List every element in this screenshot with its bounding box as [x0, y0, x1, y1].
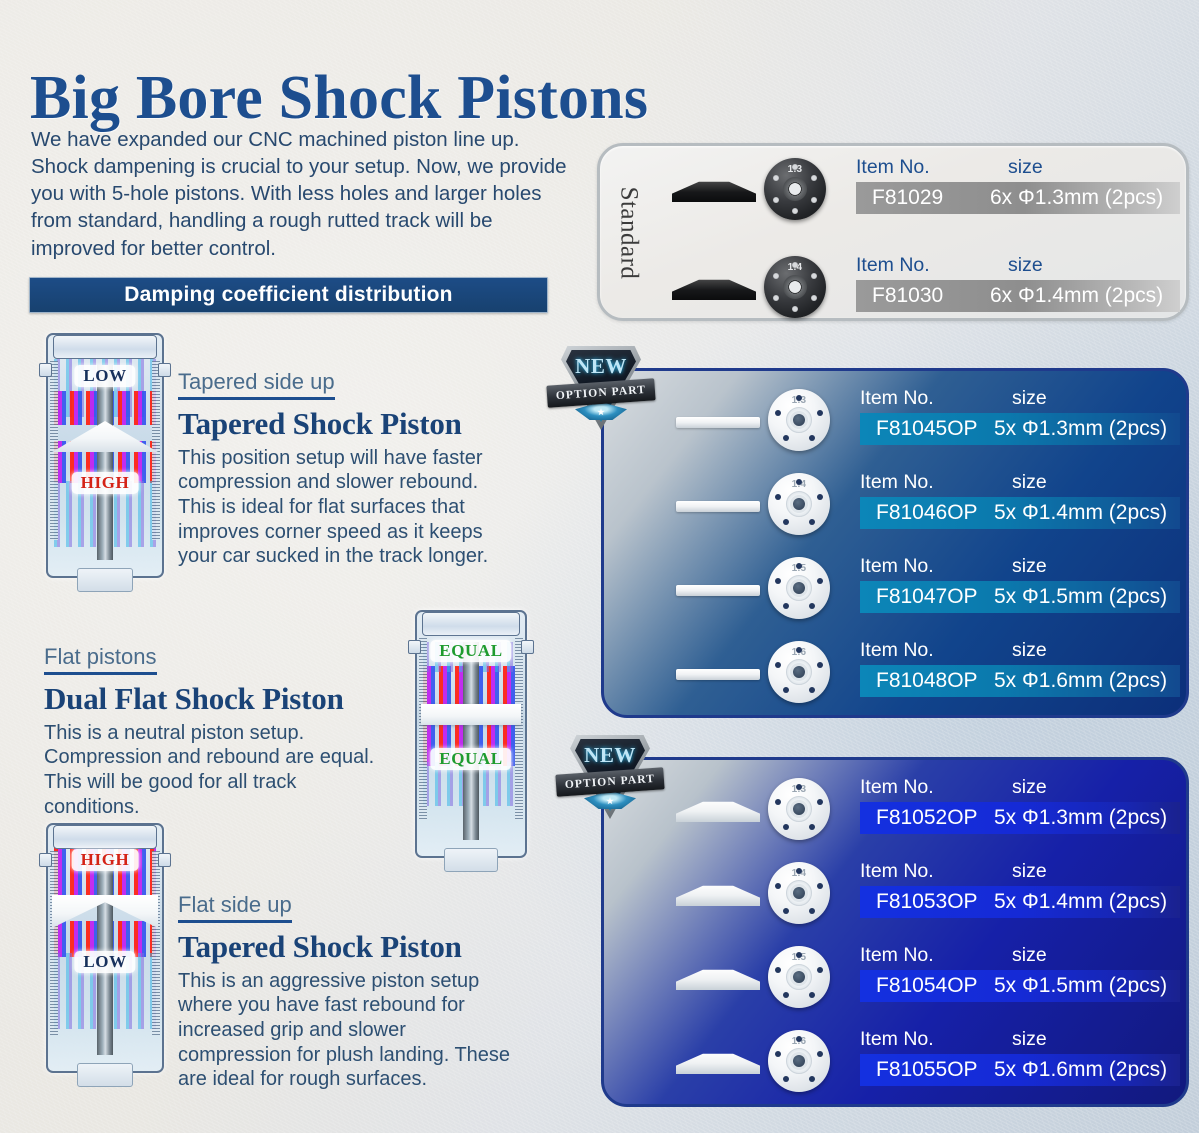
section-flat-pistons: Flat pistons Dual Flat Shock Piston This…: [44, 645, 396, 819]
piston-hole: [817, 410, 824, 417]
column-header-item-no: Item No.: [856, 254, 1008, 277]
row-value-bar[interactable]: F81046OP5x Φ1.4mm (2pcs): [860, 497, 1180, 529]
product-row-text: Item No.sizeF81054OP5x Φ1.5mm (2pcs): [860, 940, 1180, 1016]
cell-item-no: F81055OP: [860, 1058, 994, 1082]
row-value-bar[interactable]: F81055OP5x Φ1.6mm (2pcs): [860, 1054, 1180, 1086]
shock-diagram-flat-side-up: HIGH LOW: [46, 823, 164, 1073]
row-header: Item No.size: [856, 152, 1180, 182]
piston-disc: 1.3: [768, 389, 830, 451]
piston-side-profile: [676, 493, 760, 519]
cell-size: 5x Φ1.6mm (2pcs): [994, 669, 1167, 693]
cell-size: 5x Φ1.3mm (2pcs): [994, 806, 1167, 830]
piston-hole: [792, 306, 799, 313]
shock-foot: [444, 848, 498, 872]
product-row-text: Item No.sizeF81053OP5x Φ1.4mm (2pcs): [860, 856, 1180, 932]
cell-item-no: F81048OP: [860, 669, 994, 693]
panel-option-flat-pistons: 1.3Item No.sizeF81045OP5x Φ1.3mm (2pcs)1…: [601, 368, 1189, 718]
piston-disc-wrapper: 1.4: [768, 469, 830, 539]
knurl-right: [515, 638, 523, 820]
piston-hole: [817, 883, 824, 890]
section-body: This position setup will have faster com…: [178, 446, 514, 569]
new-option-part-badge-1: NEW OPTION PART: [549, 342, 653, 438]
row-value-bar[interactable]: F81052OP5x Φ1.3mm (2pcs): [860, 802, 1180, 834]
piston-side-profile: [676, 409, 760, 435]
panel-standard: Standard 1.3Item No.sizeF810296x Φ1.3mm …: [597, 143, 1189, 321]
piston-hole: [783, 1076, 790, 1083]
row-header: Item No.size: [860, 467, 1180, 497]
column-header-size: size: [1012, 860, 1047, 883]
shock-foot: [77, 1063, 134, 1087]
shock-rod: [97, 365, 113, 560]
piston-bore: [793, 971, 805, 983]
column-header-size: size: [1012, 944, 1047, 967]
column-header-size: size: [1008, 254, 1043, 277]
piston-bore: [789, 183, 801, 195]
product-row[interactable]: 1.6Item No.sizeF81048OP5x Φ1.6mm (2pcs): [604, 635, 1186, 711]
shock-ear-left: [39, 363, 52, 377]
flat-piston-shape: [676, 417, 760, 428]
piston-hole: [817, 494, 824, 501]
row-header: Item No.size: [860, 551, 1180, 581]
row-header: Item No.size: [860, 383, 1180, 413]
section-tapered-side-up: Tapered side up Tapered Shock Piston Thi…: [178, 370, 514, 569]
product-row[interactable]: 1.3Item No.sizeF810296x Φ1.3mm (2pcs): [600, 152, 1186, 228]
row-value-bar[interactable]: F81047OP5x Φ1.5mm (2pcs): [860, 581, 1180, 613]
piston-side-profile: [676, 966, 760, 992]
row-value-bar[interactable]: F810306x Φ1.4mm (2pcs): [856, 280, 1180, 312]
panel-option-tapered-pistons: 1.3Item No.sizeF81052OP5x Φ1.3mm (2pcs)1…: [601, 757, 1189, 1107]
product-row[interactable]: 1.5Item No.sizeF81047OP5x Φ1.5mm (2pcs): [604, 551, 1186, 627]
damping-tag-top: LOW: [74, 365, 135, 387]
column-header-item-no: Item No.: [856, 156, 1008, 179]
cell-size: 5x Φ1.4mm (2pcs): [994, 501, 1167, 525]
cell-item-no: F81054OP: [860, 974, 994, 998]
piston-disc-wrapper: 1.4: [768, 858, 830, 928]
row-value-bar[interactable]: F81048OP5x Φ1.6mm (2pcs): [860, 665, 1180, 697]
column-header-item-no: Item No.: [860, 555, 1012, 578]
piston-hole: [817, 967, 824, 974]
piston-hole: [811, 197, 818, 204]
piston-disc: 1.3: [764, 158, 826, 220]
piston-disc: 1.5: [768, 557, 830, 619]
tapered-piston-shape: [676, 968, 760, 990]
cell-item-no: F81045OP: [860, 417, 994, 441]
piston-hole: [811, 273, 818, 280]
product-row[interactable]: 1.4Item No.sizeF81046OP5x Φ1.4mm (2pcs): [604, 467, 1186, 543]
piston-hole: [783, 519, 790, 526]
piston-hole: [775, 967, 782, 974]
piston-hole: [775, 410, 782, 417]
column-header-item-no: Item No.: [860, 639, 1012, 662]
cell-size: 5x Φ1.6mm (2pcs): [994, 1058, 1167, 1082]
shock-rod: [463, 642, 479, 840]
piston-hole: [809, 824, 816, 831]
column-header-item-no: Item No.: [860, 860, 1012, 883]
piston-hole: [809, 1076, 816, 1083]
shock-cap: [422, 612, 521, 636]
shock-diagram-tapered-side-up: LOW HIGH: [46, 333, 164, 578]
product-row-text: Item No.sizeF81052OP5x Φ1.3mm (2pcs): [860, 772, 1180, 848]
piston-disc: 1.6: [768, 641, 830, 703]
piston-side-profile: [672, 178, 756, 204]
column-header-size: size: [1012, 555, 1047, 578]
cell-item-no: F81053OP: [860, 890, 994, 914]
piston-disc: 1.4: [768, 473, 830, 535]
piston-bore: [789, 281, 801, 293]
piston-hole: [773, 295, 780, 302]
badge-ribbon: OPTION PART: [555, 767, 664, 796]
tapered-piston-shape: [672, 180, 756, 202]
cell-item-no: F81029: [856, 186, 990, 210]
shock-foot: [77, 568, 134, 592]
cell-item-no: F81030: [856, 284, 990, 308]
flat-piston-shape: [676, 585, 760, 596]
piston-tapered-up: [52, 421, 158, 452]
piston-hole: [783, 435, 790, 442]
product-row[interactable]: 1.3Item No.sizeF81052OP5x Φ1.3mm (2pcs): [604, 772, 1186, 848]
shock-cap: [53, 825, 157, 849]
piston-hole: [809, 519, 816, 526]
piston-side-profile: [676, 882, 760, 908]
tapered-piston-shape: [676, 1052, 760, 1074]
badge-new-label: NEW: [549, 354, 653, 379]
piston-hole: [809, 687, 816, 694]
damping-tag-bottom: EQUAL: [430, 748, 511, 770]
damping-banner-label: Damping coefficient distribution: [124, 283, 452, 307]
piston-disc: 1.5: [768, 946, 830, 1008]
new-option-part-badge-2: NEW OPTION PART: [558, 731, 662, 827]
piston-side-profile: [676, 798, 760, 824]
column-header-item-no: Item No.: [860, 776, 1012, 799]
column-header-item-no: Item No.: [860, 1028, 1012, 1051]
cell-size: 5x Φ1.5mm (2pcs): [994, 585, 1167, 609]
section-eyebrow: Flat side up: [178, 893, 292, 923]
section-eyebrow: Tapered side up: [178, 370, 335, 400]
row-header: Item No.size: [860, 1024, 1180, 1054]
damping-tag-top: EQUAL: [430, 640, 511, 662]
cell-size: 5x Φ1.5mm (2pcs): [994, 974, 1167, 998]
piston-hole: [783, 687, 790, 694]
piston-bore: [793, 582, 805, 594]
cell-item-no: F81046OP: [860, 501, 994, 525]
piston-dual-flat: [421, 704, 521, 725]
piston-disc: 1.3: [768, 778, 830, 840]
column-header-size: size: [1012, 639, 1047, 662]
tapered-piston-shape: [672, 278, 756, 300]
product-row[interactable]: 1.3Item No.sizeF81045OP5x Φ1.3mm (2pcs): [604, 383, 1186, 459]
piston-disc-wrapper: 1.4: [764, 252, 826, 322]
column-header-size: size: [1008, 156, 1043, 179]
shock-diagram-dual-flat: EQUAL EQUAL: [415, 610, 527, 858]
knurl-right: [152, 851, 160, 1035]
piston-hole: [809, 603, 816, 610]
piston-hole: [817, 1051, 824, 1058]
badge-option-part-label: OPTION PART: [555, 384, 646, 402]
damping-tag-bottom: HIGH: [72, 472, 139, 494]
section-body: This is an aggressive piston setup where…: [178, 969, 518, 1092]
product-row-text: Item No.sizeF81046OP5x Φ1.4mm (2pcs): [860, 467, 1180, 543]
piston-hole: [817, 662, 824, 669]
knurl-left: [50, 851, 58, 1035]
intro-paragraph: We have expanded our CNC machined piston…: [31, 126, 579, 262]
badge-ribbon: OPTION PART: [546, 378, 655, 407]
piston-bore: [793, 887, 805, 899]
piston-side-profile: [676, 1050, 760, 1076]
piston-hole: [775, 662, 782, 669]
shock-ear-left: [39, 853, 52, 867]
flat-piston-shape: [676, 669, 760, 680]
row-header: Item No.size: [860, 940, 1180, 970]
piston-hole: [809, 908, 816, 915]
piston-disc: 1.4: [764, 256, 826, 318]
damping-tag-top: HIGH: [72, 849, 139, 871]
cell-item-no: F81047OP: [860, 585, 994, 609]
piston-hole: [817, 578, 824, 585]
row-value-bar[interactable]: F81053OP5x Φ1.4mm (2pcs): [860, 886, 1180, 918]
piston-hole: [783, 603, 790, 610]
piston-hole: [773, 273, 780, 280]
row-value-bar[interactable]: F81045OP5x Φ1.3mm (2pcs): [860, 413, 1180, 445]
piston-hole: [775, 1051, 782, 1058]
piston-bore: [793, 414, 805, 426]
section-heading: Dual Flat Shock Piston: [44, 681, 396, 718]
column-header-size: size: [1012, 471, 1047, 494]
piston-hole: [783, 908, 790, 915]
piston-hole: [792, 208, 799, 215]
shock-ear-right: [158, 363, 171, 377]
product-row-text: Item No.sizeF810306x Φ1.4mm (2pcs): [856, 250, 1180, 326]
cell-size: 5x Φ1.4mm (2pcs): [994, 890, 1167, 914]
tapered-piston-shape: [676, 884, 760, 906]
piston-disc-wrapper: 1.3: [768, 774, 830, 844]
piston-hole: [783, 824, 790, 831]
piston-bore: [793, 803, 805, 815]
piston-disc-wrapper: 1.5: [768, 942, 830, 1012]
piston-disc-wrapper: 1.5: [768, 553, 830, 623]
section-eyebrow: Flat pistons: [44, 645, 157, 675]
product-row-text: Item No.sizeF81055OP5x Φ1.6mm (2pcs): [860, 1024, 1180, 1100]
piston-disc-wrapper: 1.6: [768, 1026, 830, 1096]
product-row-text: Item No.sizeF810296x Φ1.3mm (2pcs): [856, 152, 1180, 228]
knurl-left: [419, 638, 427, 820]
piston-hole: [775, 578, 782, 585]
cell-size: 6x Φ1.4mm (2pcs): [990, 284, 1163, 308]
flat-piston-shape: [676, 501, 760, 512]
cell-item-no: F81052OP: [860, 806, 994, 830]
shock-cap: [53, 335, 157, 359]
section-flat-side-up: Flat side up Tapered Shock Piston This i…: [178, 893, 518, 1092]
piston-hole: [817, 799, 824, 806]
row-header: Item No.size: [860, 856, 1180, 886]
piston-hole: [811, 175, 818, 182]
column-header-item-no: Item No.: [860, 944, 1012, 967]
piston-side-profile: [676, 577, 760, 603]
row-header: Item No.size: [860, 635, 1180, 665]
cell-size: 5x Φ1.3mm (2pcs): [994, 417, 1167, 441]
piston-hole: [773, 197, 780, 204]
piston-hole: [809, 435, 816, 442]
product-row[interactable]: 1.6Item No.sizeF81055OP5x Φ1.6mm (2pcs): [604, 1024, 1186, 1100]
piston-bore: [793, 666, 805, 678]
page-title: Big Bore Shock Pistons: [30, 67, 648, 129]
row-value-bar[interactable]: F810296x Φ1.3mm (2pcs): [856, 182, 1180, 214]
piston-hole: [775, 799, 782, 806]
shock-ear-left: [408, 640, 421, 654]
row-header: Item No.size: [856, 250, 1180, 280]
piston-disc-wrapper: 1.3: [768, 385, 830, 455]
shock-ear-right: [158, 853, 171, 867]
column-header-size: size: [1012, 387, 1047, 410]
piston-hole: [775, 883, 782, 890]
shock-ear-right: [521, 640, 534, 654]
badge-new-label: NEW: [558, 743, 662, 768]
product-row-text: Item No.sizeF81045OP5x Φ1.3mm (2pcs): [860, 383, 1180, 459]
section-body: This is a neutral piston setup. Compress…: [44, 721, 396, 819]
section-heading: Tapered Shock Piston: [178, 929, 518, 966]
piston-disc: 1.4: [768, 862, 830, 924]
column-header-size: size: [1012, 776, 1047, 799]
damping-tag-bottom: LOW: [74, 951, 135, 973]
cell-size: 6x Φ1.3mm (2pcs): [990, 186, 1163, 210]
badge-option-part-label: OPTION PART: [564, 773, 655, 791]
piston-side-profile: [672, 276, 756, 302]
piston-hole: [775, 494, 782, 501]
tapered-piston-shape: [676, 800, 760, 822]
section-heading: Tapered Shock Piston: [178, 406, 514, 443]
row-value-bar[interactable]: F81054OP5x Φ1.5mm (2pcs): [860, 970, 1180, 1002]
damping-banner: Damping coefficient distribution: [29, 277, 548, 313]
product-row[interactable]: 1.4Item No.sizeF810306x Φ1.4mm (2pcs): [600, 250, 1186, 326]
piston-disc: 1.6: [768, 1030, 830, 1092]
piston-hole: [811, 295, 818, 302]
column-header-size: size: [1012, 1028, 1047, 1051]
piston-disc-wrapper: 1.6: [768, 637, 830, 707]
column-header-item-no: Item No.: [860, 387, 1012, 410]
piston-hole: [773, 175, 780, 182]
product-row[interactable]: 1.5Item No.sizeF81054OP5x Φ1.5mm (2pcs): [604, 940, 1186, 1016]
piston-hole: [783, 992, 790, 999]
column-header-item-no: Item No.: [860, 471, 1012, 494]
row-header: Item No.size: [860, 772, 1180, 802]
piston-bore: [793, 498, 805, 510]
piston-side-profile: [676, 661, 760, 687]
piston-disc-wrapper: 1.3: [764, 154, 826, 224]
product-row[interactable]: 1.4Item No.sizeF81053OP5x Φ1.4mm (2pcs): [604, 856, 1186, 932]
piston-hole: [809, 992, 816, 999]
product-row-text: Item No.sizeF81048OP5x Φ1.6mm (2pcs): [860, 635, 1180, 711]
product-row-text: Item No.sizeF81047OP5x Φ1.5mm (2pcs): [860, 551, 1180, 627]
piston-bore: [793, 1055, 805, 1067]
